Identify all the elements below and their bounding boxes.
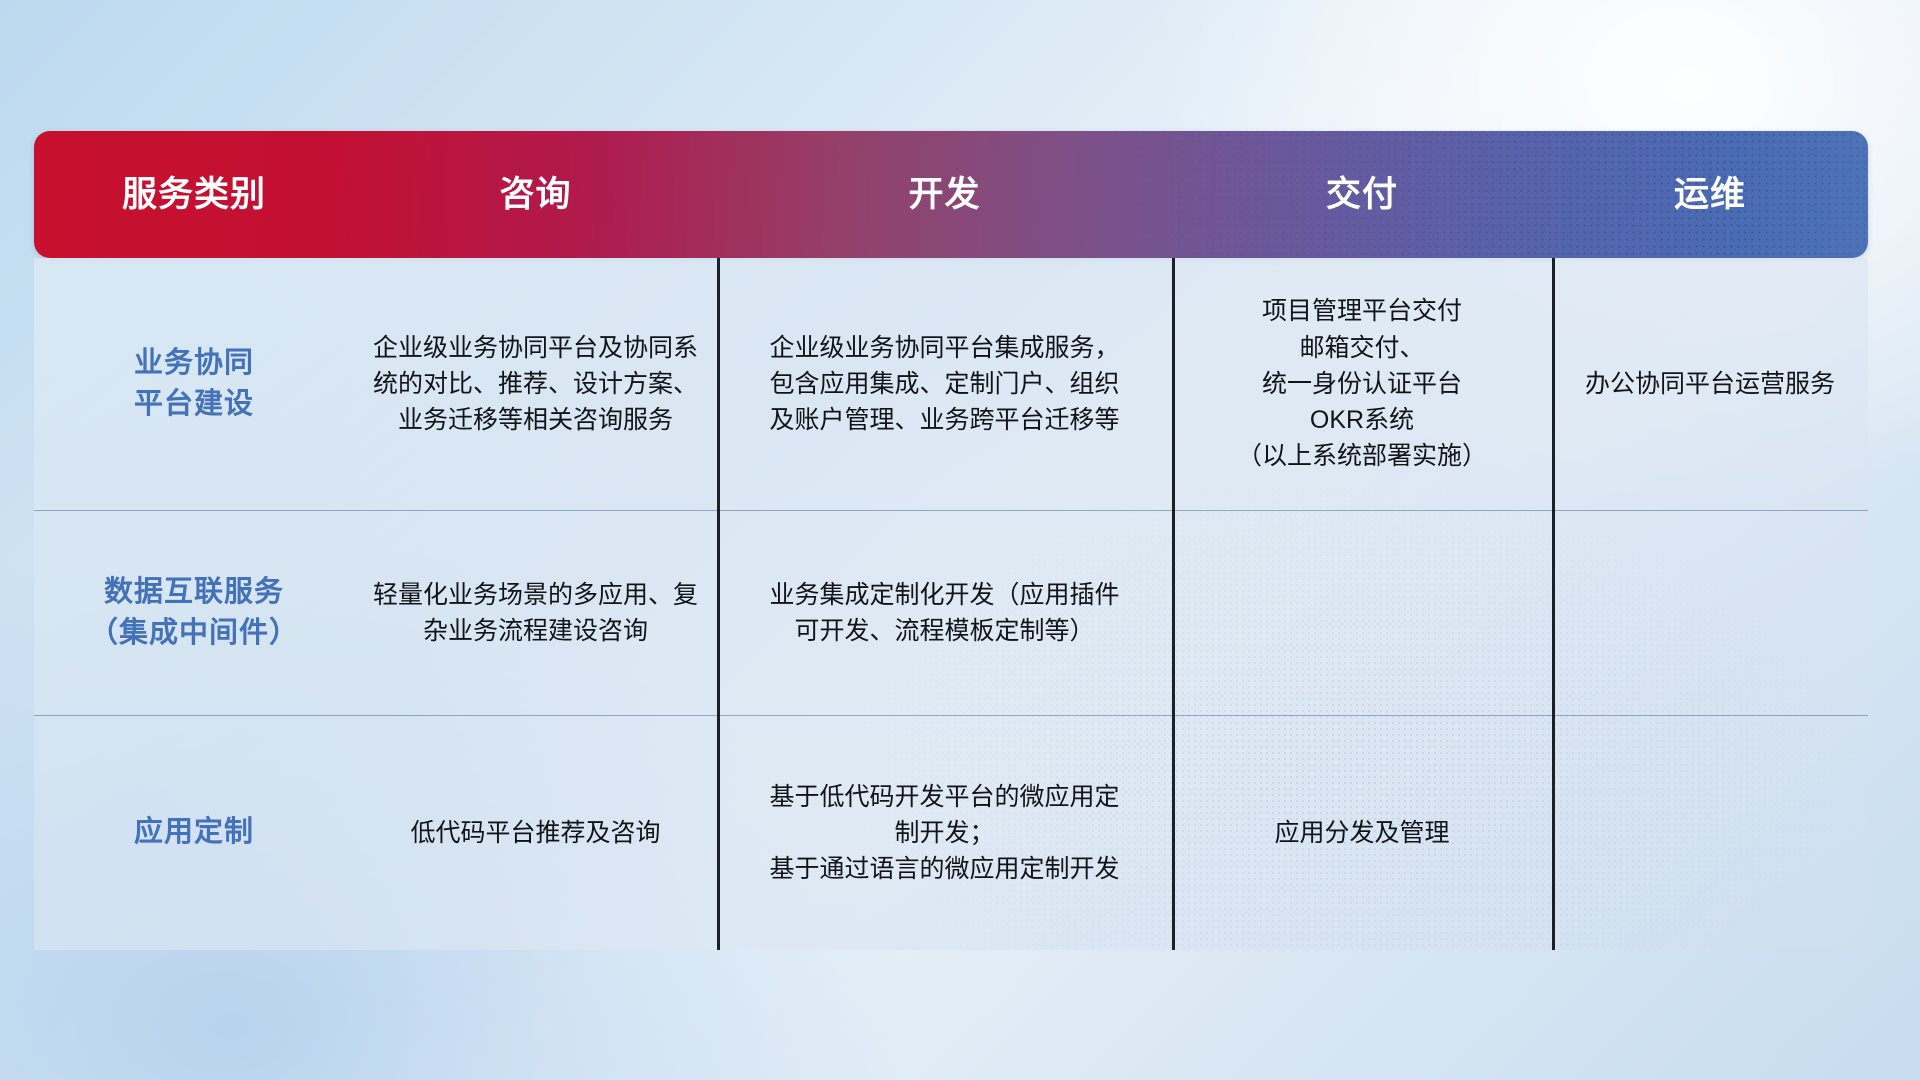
column-header-operations: 运维 — [1552, 174, 1868, 216]
table-header-row: 服务类别 咨询 开发 交付 运维 — [34, 131, 1868, 258]
service-category-table: 服务类别 咨询 开发 交付 运维 业务协同 平台建设 企业级业务协同平台及协同系… — [34, 131, 1868, 950]
cell-consulting-row3: 低代码平台推荐及咨询 — [354, 716, 717, 950]
cell-delivery-row3: 应用分发及管理 — [1172, 716, 1552, 950]
table-row: 数据互联服务 （集成中间件） 轻量化业务场景的多应用、复 杂业务流程建设咨询 业… — [34, 511, 1868, 716]
table-row: 业务协同 平台建设 企业级业务协同平台及协同系 统的对比、推荐、设计方案、 业务… — [34, 258, 1868, 511]
row-label-data-integration: 数据互联服务 （集成中间件） — [34, 511, 354, 715]
slide-canvas: 服务类别 咨询 开发 交付 运维 业务协同 平台建设 企业级业务协同平台及协同系… — [0, 0, 1920, 1080]
column-header-development: 开发 — [717, 174, 1172, 216]
cell-operations-row3 — [1552, 716, 1868, 950]
cell-delivery-row2 — [1172, 511, 1552, 715]
row-label-business-collaboration: 业务协同 平台建设 — [34, 258, 354, 510]
column-header-category: 服务类别 — [34, 174, 354, 216]
table-row: 应用定制 低代码平台推荐及咨询 基于低代码开发平台的微应用定 制开发； 基于通过… — [34, 716, 1868, 950]
row-label-app-customization: 应用定制 — [34, 716, 354, 950]
cell-development-row3: 基于低代码开发平台的微应用定 制开发； 基于通过语言的微应用定制开发 — [717, 716, 1172, 950]
cell-operations-row2 — [1552, 511, 1868, 715]
table-body: 业务协同 平台建设 企业级业务协同平台及协同系 统的对比、推荐、设计方案、 业务… — [34, 258, 1868, 950]
cell-development-row1: 企业级业务协同平台集成服务， 包含应用集成、定制门户、组织 及账户管理、业务跨平… — [717, 258, 1172, 510]
cell-consulting-row1: 企业级业务协同平台及协同系 统的对比、推荐、设计方案、 业务迁移等相关咨询服务 — [354, 258, 717, 510]
column-header-consulting: 咨询 — [354, 174, 717, 216]
cell-delivery-row1: 项目管理平台交付 邮箱交付、 统一身份认证平台 OKR系统 （以上系统部署实施） — [1172, 258, 1552, 510]
column-header-delivery: 交付 — [1172, 174, 1552, 216]
cell-development-row2: 业务集成定制化开发（应用插件 可开发、流程模板定制等） — [717, 511, 1172, 715]
cell-operations-row1: 办公协同平台运营服务 — [1552, 258, 1868, 510]
cell-consulting-row2: 轻量化业务场景的多应用、复 杂业务流程建设咨询 — [354, 511, 717, 715]
